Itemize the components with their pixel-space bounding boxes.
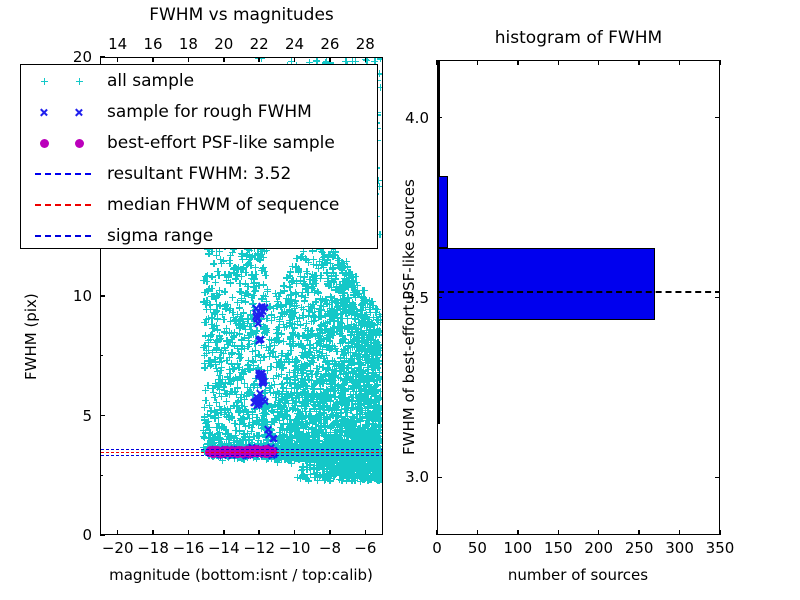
scatter-point-all (273, 326, 280, 333)
scatter-point-all (311, 272, 318, 279)
scatter-point-all (275, 359, 282, 366)
scatter-point-all (340, 351, 347, 358)
scatter-point-all (296, 432, 303, 439)
scatter-point-all (286, 284, 293, 291)
scatter-point-all (316, 325, 323, 332)
scatter-point-all (366, 387, 373, 394)
scatter-point-all (370, 456, 377, 463)
scatter-point-all (208, 273, 215, 280)
scatter-point-all (231, 332, 238, 339)
scatter-point-all (264, 288, 271, 295)
scatter-point-all (359, 374, 366, 381)
scatter-point-all (292, 356, 299, 363)
scatter-point-all (287, 433, 294, 440)
scatter-point-rough (259, 377, 267, 385)
scatter-point-all (367, 473, 374, 480)
scatter-point-all (303, 256, 310, 263)
scatter-point-all (242, 290, 249, 297)
scatter-point-all (271, 381, 278, 388)
left-panel-xlabel: magnitude (bottom:isnt / top:calib) (109, 566, 373, 584)
figure-canvas: FWHM vs magnitudes FWHM (pix) magnitude … (0, 0, 800, 600)
scatter-point-all (291, 300, 298, 307)
scatter-point-all (205, 343, 212, 350)
scatter-point-all (338, 259, 345, 266)
scatter-point-all (311, 287, 318, 294)
scatter-point-all (201, 404, 208, 411)
scatter-point-all (259, 265, 266, 272)
scatter-point-all (210, 260, 217, 267)
scatter-point-all (271, 417, 278, 424)
scatter-point-all (222, 430, 229, 437)
scatter-point-all (342, 371, 349, 378)
scatter-point-all (217, 355, 224, 362)
scatter-point-all (242, 423, 249, 430)
scatter-point-all (374, 321, 381, 328)
scatter-point-all (320, 336, 327, 343)
scatter-point-all (242, 298, 249, 305)
scatter-point-all (291, 381, 298, 388)
scatter-point-all (203, 350, 210, 357)
scatter-point-all (301, 297, 308, 304)
scatter-point-all (262, 410, 269, 417)
scatter-point-all (236, 373, 243, 380)
scatter-point-all (247, 262, 254, 269)
scatter-point-all (365, 420, 372, 427)
scatter-point-all (227, 318, 234, 325)
scatter-point-all (293, 255, 300, 262)
scatter-point-all (215, 379, 222, 386)
scatter-point-all (378, 476, 382, 483)
scatter-point-all (365, 366, 372, 373)
scatter-point-all (218, 409, 225, 416)
scatter-point-all (375, 423, 382, 430)
scatter-point-all (291, 421, 298, 428)
scatter-point-all (228, 413, 235, 420)
scatter-point-all (213, 346, 220, 353)
scatter-point-all (201, 364, 208, 371)
scatter-point-all (328, 305, 335, 312)
scatter-point-all (295, 341, 302, 348)
scatter-point-all (288, 312, 295, 319)
scatter-point-all (281, 396, 288, 403)
scatter-point-all (299, 421, 306, 428)
scatter-point-all (299, 312, 306, 319)
scatter-point-rough (256, 335, 264, 343)
scatter-point-all (302, 281, 309, 288)
scatter-point-all (336, 476, 343, 483)
scatter-point-all (226, 370, 233, 377)
scatter-point-all (217, 367, 224, 374)
scatter-point-all (360, 460, 367, 467)
scatter-point-all (359, 476, 366, 483)
scatter-point-all (332, 372, 339, 379)
scatter-point-all (268, 311, 275, 318)
scatter-point-all (283, 301, 290, 308)
scatter-point-all (267, 389, 274, 396)
scatter-point-all (295, 266, 302, 273)
scatter-point-all (311, 352, 318, 359)
scatter-point-all (286, 340, 293, 347)
scatter-point-all (284, 274, 291, 281)
scatter-point-all (214, 326, 221, 333)
scatter-point-all (336, 365, 343, 372)
scatter-point-all (342, 405, 349, 412)
scatter-point-all (319, 296, 326, 303)
scatter-point-all (297, 321, 304, 328)
scatter-point-all (347, 421, 354, 428)
scatter-point-all (366, 399, 373, 406)
scatter-point-all (248, 424, 255, 431)
scatter-point-all (252, 252, 259, 259)
scatter-point-all (218, 423, 225, 430)
scatter-point-rough (251, 312, 259, 320)
scatter-point-all (373, 407, 380, 414)
scatter-point-all (303, 268, 310, 275)
scatter-point-all (229, 388, 236, 395)
scatter-point-all (328, 411, 335, 418)
scatter-point-all (213, 301, 220, 308)
scatter-point-all (325, 360, 332, 367)
scatter-point-all (339, 416, 346, 423)
scatter-point-all (300, 413, 307, 420)
scatter-point-all (328, 284, 335, 291)
scatter-point-all (364, 355, 371, 362)
scatter-point-all (221, 303, 228, 310)
scatter-point-all (214, 268, 221, 275)
scatter-point-all (374, 339, 381, 346)
scatter-point-all (225, 273, 232, 280)
scatter-point-all (370, 376, 377, 383)
scatter-point-all (313, 462, 320, 469)
scatter-point-all (232, 432, 239, 439)
scatter-point-all (303, 475, 310, 482)
scatter-point-all (275, 293, 282, 300)
scatter-point-all (222, 347, 229, 354)
scatter-point-all (344, 470, 351, 477)
scatter-point-all (202, 387, 209, 394)
scatter-point-all (237, 320, 244, 327)
scatter-point-all (226, 260, 233, 267)
scatter-point-all (277, 313, 284, 320)
scatter-point-all (238, 250, 245, 257)
scatter-point-all (205, 287, 212, 294)
scatter-point-all (229, 294, 236, 301)
scatter-point-rough (269, 434, 277, 442)
scatter-point-all (287, 291, 294, 298)
scatter-point-all (301, 376, 308, 383)
scatter-point-all (358, 441, 365, 448)
scatter-point-all (245, 357, 252, 364)
scatter-point-all (348, 280, 355, 287)
scatter-point-all (328, 460, 335, 467)
scatter-point-all (283, 408, 290, 415)
scatter-point-all (289, 320, 296, 327)
scatter-point-all (200, 298, 207, 305)
scatter-point-all (347, 463, 354, 470)
scatter-point-all (322, 475, 329, 482)
scatter-point-all (238, 342, 245, 349)
scatter-point-all (366, 304, 373, 311)
scatter-point-all (245, 343, 252, 350)
scatter-point-all (289, 329, 296, 336)
scatter-point-all (325, 344, 332, 351)
scatter-point-all (330, 421, 337, 428)
scatter-point-all (240, 309, 247, 316)
scatter-point-all (346, 299, 353, 306)
scatter-point-all (312, 371, 319, 378)
scatter-point-all (336, 324, 343, 331)
scatter-point-all (341, 387, 348, 394)
scatter-point-all (330, 269, 337, 276)
scatter-point-all (377, 388, 382, 395)
scatter-point-all (301, 361, 308, 368)
scatter-point-all (232, 275, 239, 282)
scatter-point-all (250, 283, 257, 290)
scatter-point-all (248, 275, 255, 282)
scatter-point-all (241, 416, 248, 423)
scatter-point-all (203, 316, 210, 323)
scatter-point-all (322, 312, 329, 319)
scatter-point-all (306, 408, 313, 415)
scatter-point-all (349, 306, 356, 313)
scatter-point-all (346, 269, 353, 276)
scatter-point-all (263, 327, 270, 334)
scatter-point-all (237, 354, 244, 361)
scatter-point-all (271, 339, 278, 346)
scatter-point-all (343, 365, 350, 372)
scatter-point-all (294, 474, 301, 481)
scatter-point-all (359, 287, 366, 294)
scatter-point-all (358, 407, 365, 414)
scatter-point-all (278, 381, 285, 388)
scatter-point-rough (264, 425, 272, 433)
left-panel-ylabel: FWHM (pix) (22, 293, 40, 380)
scatter-point-all (295, 394, 302, 401)
scatter-point-all (328, 277, 335, 284)
scatter-point-all (290, 405, 297, 412)
scatter-point-all (216, 291, 223, 298)
scatter-point-all (332, 312, 339, 319)
scatter-point-all (250, 292, 257, 299)
scatter-point-all (349, 328, 356, 335)
scatter-point-all (313, 471, 320, 478)
scatter-point-all (329, 366, 336, 373)
scatter-point-all (339, 397, 346, 404)
scatter-point-all (278, 352, 285, 359)
scatter-point-all (364, 322, 371, 329)
left-panel-title: FWHM vs magnitudes (100, 5, 383, 25)
scatter-point-all (324, 437, 331, 444)
scatter-point-all (204, 424, 211, 431)
scatter-point-all (265, 347, 272, 354)
scatter-point-all (300, 386, 307, 393)
scatter-point-all (352, 428, 359, 435)
scatter-point-all (376, 461, 382, 468)
scatter-point-all (304, 327, 311, 334)
scatter-point-all (213, 399, 220, 406)
scatter-point-all (328, 297, 335, 304)
scatter-point-all (211, 407, 218, 414)
scatter-point-all (319, 376, 326, 383)
scatter-point-all (341, 306, 348, 313)
scatter-point-all (349, 413, 356, 420)
scatter-point-all (241, 380, 248, 387)
scatter-point-all (341, 456, 348, 463)
scatter-point-rough (250, 399, 258, 407)
scatter-point-all (271, 401, 278, 408)
scatter-point-all (286, 369, 293, 376)
scatter-point-all (219, 311, 226, 318)
scatter-point-all (327, 391, 334, 398)
scatter-point-all (352, 400, 359, 407)
scatter-point-all (322, 423, 329, 430)
scatter-point-all (214, 338, 221, 345)
scatter-point-all (315, 427, 322, 434)
scatter-point-all (320, 394, 327, 401)
scatter-point-all (331, 429, 338, 436)
scatter-point-all (356, 345, 363, 352)
scatter-point-all (324, 256, 331, 263)
scatter-point-all (277, 301, 284, 308)
scatter-point-all (339, 337, 346, 344)
scatter-point-all (372, 360, 379, 367)
scatter-point-all (267, 363, 274, 370)
